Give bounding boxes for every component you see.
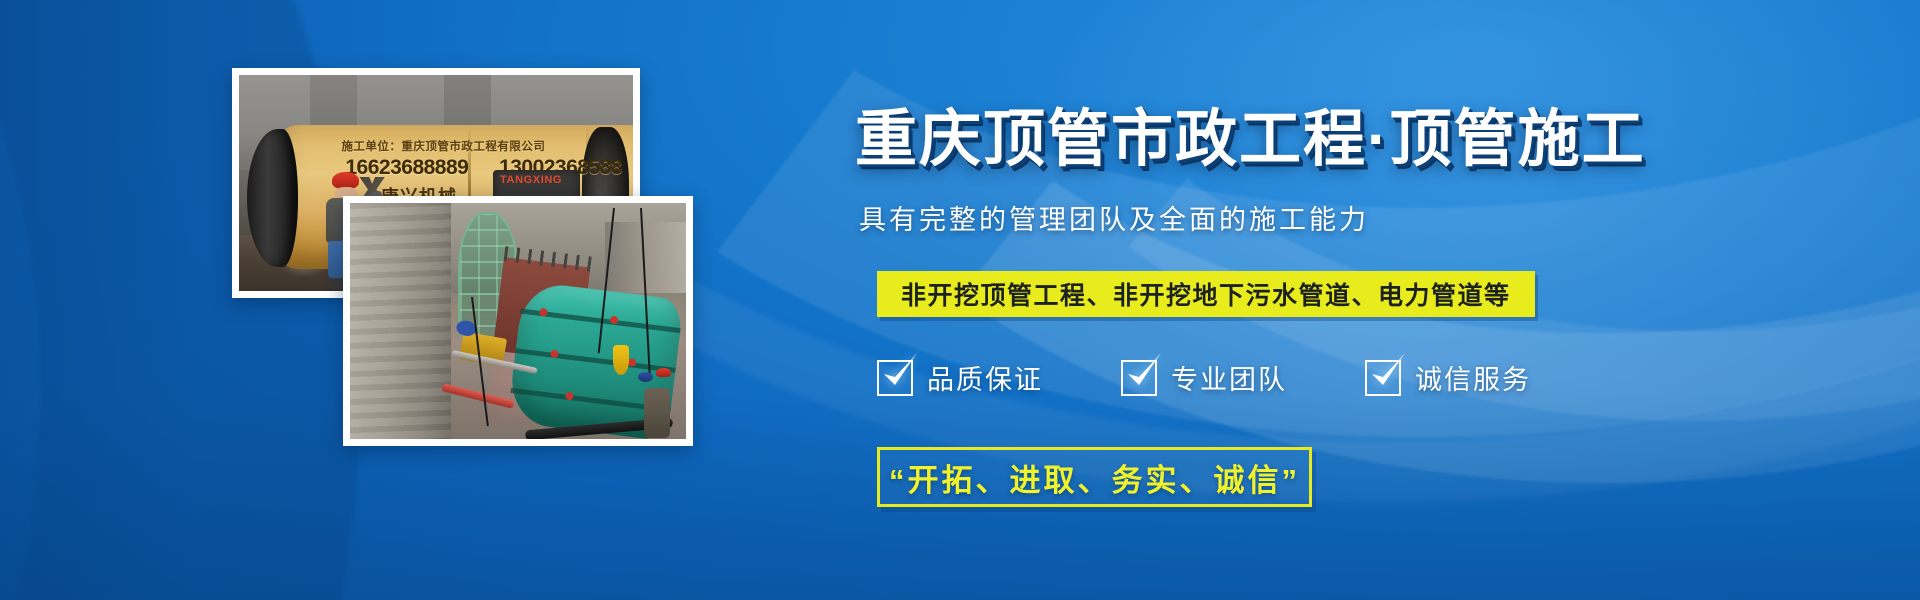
feature-label-quality: 品质保证 [927, 358, 1043, 397]
photo1-logo-brand: TANGXING [500, 174, 562, 186]
photo2-blue-helmet-icon [638, 372, 653, 382]
photo2-worker-body [644, 388, 670, 438]
checkbox-check-icon [877, 360, 913, 396]
feature-label-integrity: 诚信服务 [1415, 358, 1531, 397]
banner-content: 重庆顶管市政工程·顶管施工 具有完整的管理团队及全面的施工能力 非开挖顶管工程、… [855, 0, 1865, 600]
feature-label-team: 专业团队 [1171, 358, 1287, 397]
slogan-box: “开拓、进取、务实、诚信” [877, 447, 1312, 507]
service-highlight-text: 非开挖顶管工程、非开挖地下污水管道、电力管道等 [901, 276, 1511, 312]
feature-list: 品质保证 专业团队 诚信服务 [877, 358, 1531, 397]
photo2-yellow-hoist [613, 345, 629, 375]
feature-item-integrity: 诚信服务 [1365, 358, 1531, 397]
banner-title: 重庆顶管市政工程·顶管施工 [855, 88, 1646, 178]
promo-banner: 施工单位：重庆顶管市政工程有限公司 16623688889 1300236858… [0, 0, 1920, 600]
slogan-text: “开拓、进取、务实、诚信” [889, 455, 1300, 500]
feature-item-quality: 品质保证 [877, 358, 1043, 397]
photo2-left-wall [350, 203, 451, 439]
checkbox-check-icon [1121, 360, 1157, 396]
banner-subtitle: 具有完整的管理团队及全面的施工能力 [859, 198, 1369, 237]
checkbox-check-icon [1365, 360, 1401, 396]
photo-collage: 施工单位：重庆顶管市政工程有限公司 16623688889 1300236858… [0, 0, 760, 600]
service-highlight-bar: 非开挖顶管工程、非开挖地下污水管道、电力管道等 [877, 271, 1535, 317]
photo2-workers [633, 368, 673, 439]
feature-item-team: 专业团队 [1121, 358, 1287, 397]
photo1-company-line: 施工单位：重庆顶管市政工程有限公司 [341, 138, 545, 154]
photo2-red-helmet-icon [656, 368, 671, 377]
photo-underground-pit [343, 196, 693, 446]
